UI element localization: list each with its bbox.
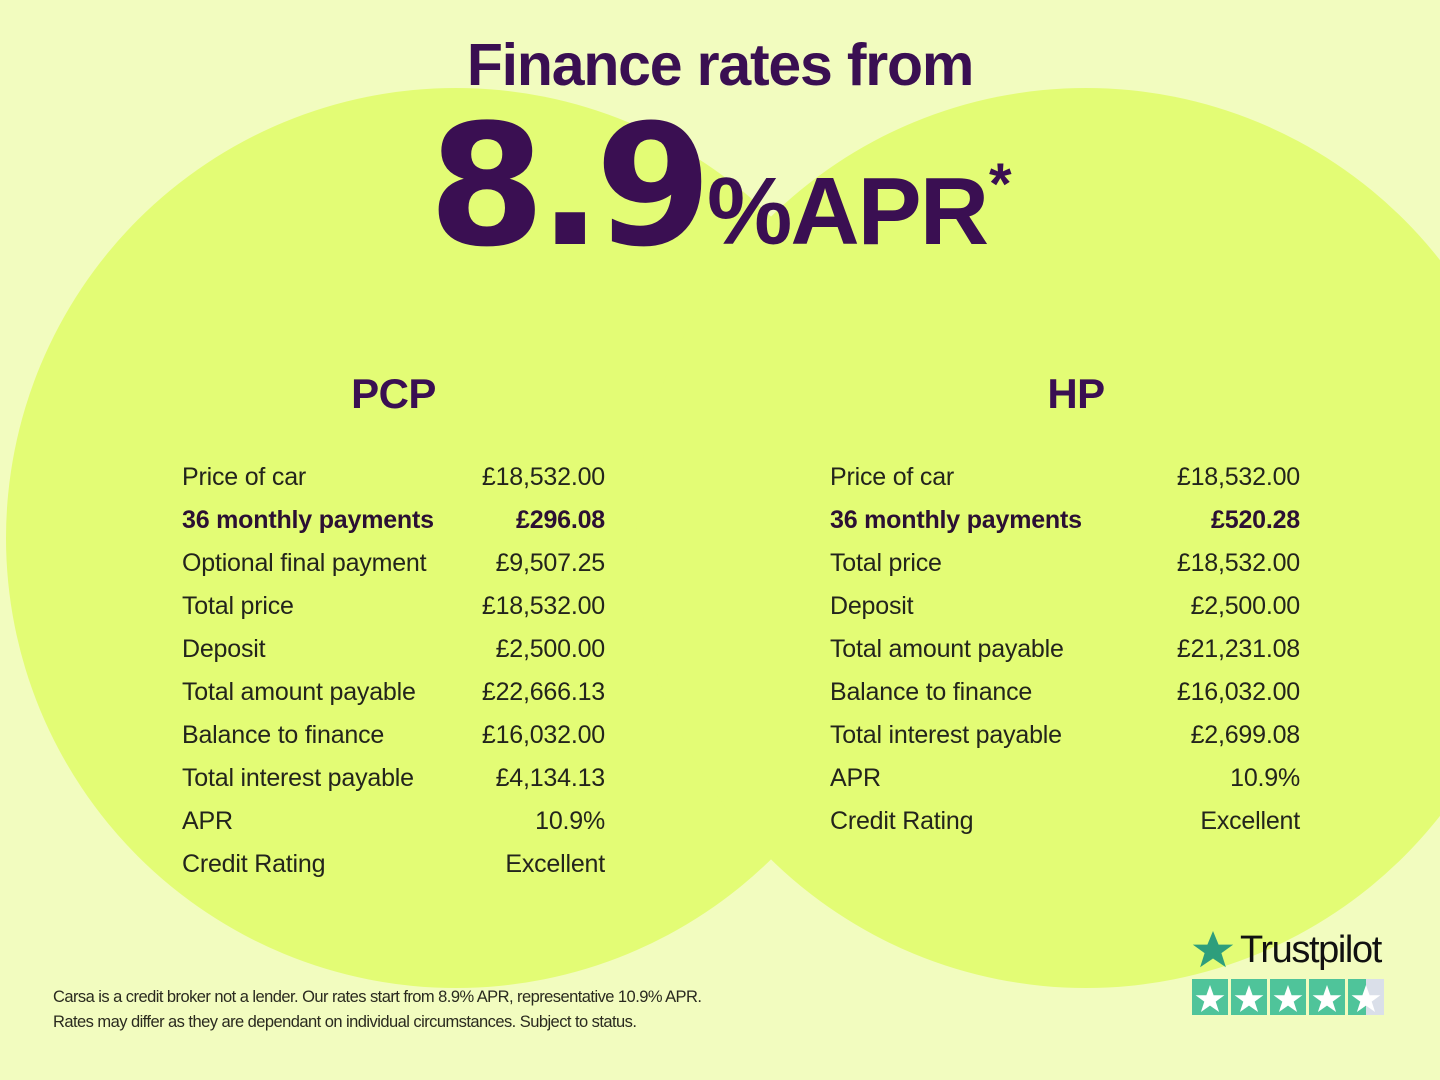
table-row: Deposit£2,500.00 bbox=[830, 591, 1300, 634]
row-label: Total price bbox=[182, 591, 294, 621]
row-label: Optional final payment bbox=[182, 548, 426, 578]
row-value: Excellent bbox=[1200, 806, 1300, 836]
table-row: 36 monthly payments£296.08 bbox=[182, 505, 605, 548]
row-value: £2,500.00 bbox=[496, 634, 605, 664]
table-title-hp: HP bbox=[852, 370, 1300, 418]
disclaimer-text: Carsa is a credit broker not a lender. O… bbox=[53, 985, 813, 1035]
trustpilot-name: Trustpilot bbox=[1240, 931, 1381, 969]
table-row: APR10.9% bbox=[182, 806, 605, 849]
rating-star-full bbox=[1231, 979, 1267, 1015]
trustpilot-rating-stars bbox=[1192, 979, 1384, 1015]
row-label: Total amount payable bbox=[182, 677, 416, 707]
row-value: £18,532.00 bbox=[482, 591, 605, 621]
table-row: Total price£18,532.00 bbox=[830, 548, 1300, 591]
row-value: 10.9% bbox=[535, 806, 605, 836]
row-value: £16,032.00 bbox=[482, 720, 605, 750]
table-row: Optional final payment£9,507.25 bbox=[182, 548, 605, 591]
rating-star-full bbox=[1270, 979, 1306, 1015]
row-label: Total interest payable bbox=[182, 763, 414, 793]
trustpilot-wordmark: Trustpilot bbox=[1192, 930, 1384, 970]
trustpilot-badge[interactable]: Trustpilot bbox=[1192, 930, 1384, 1015]
row-label: Total amount payable bbox=[830, 634, 1064, 664]
headline-rate: 8.9 %APR * bbox=[0, 107, 1440, 267]
apr-rate-suffix: %APR bbox=[707, 164, 987, 260]
table-row: Total price£18,532.00 bbox=[182, 591, 605, 634]
table-row: Price of car£18,532.00 bbox=[830, 462, 1300, 505]
row-value: £22,666.13 bbox=[482, 677, 605, 707]
poster-canvas: Finance rates from 8.9 %APR * PCP Price … bbox=[0, 0, 1440, 1080]
table-row: Credit RatingExcellent bbox=[182, 849, 605, 892]
table-row: Balance to finance£16,032.00 bbox=[830, 677, 1300, 720]
apr-rate-number: 8.9 bbox=[428, 107, 705, 267]
row-value: £9,507.25 bbox=[496, 548, 605, 578]
row-label: Deposit bbox=[830, 591, 913, 621]
table-row: Total amount payable£22,666.13 bbox=[182, 677, 605, 720]
page-title: Finance rates from bbox=[0, 36, 1440, 95]
row-value: Excellent bbox=[505, 849, 605, 879]
row-label: Balance to finance bbox=[182, 720, 384, 750]
row-label: Price of car bbox=[182, 462, 306, 492]
disclaimer-line-2: Rates may differ as they are dependant o… bbox=[53, 1010, 813, 1035]
row-label: Credit Rating bbox=[182, 849, 325, 879]
rating-star-full bbox=[1192, 979, 1228, 1015]
trustpilot-star-icon bbox=[1192, 930, 1234, 970]
row-label: APR bbox=[182, 806, 233, 836]
row-label: 36 monthly payments bbox=[182, 505, 434, 535]
row-value: £18,532.00 bbox=[1177, 548, 1300, 578]
row-value: £296.08 bbox=[516, 505, 605, 535]
table-row: Credit RatingExcellent bbox=[830, 806, 1300, 849]
row-value: 10.9% bbox=[1230, 763, 1300, 793]
row-label: Balance to finance bbox=[830, 677, 1032, 707]
table-row: Total amount payable£21,231.08 bbox=[830, 634, 1300, 677]
row-value: £520.28 bbox=[1211, 505, 1300, 535]
finance-comparison-tables: PCP Price of car£18,532.0036 monthly pay… bbox=[0, 370, 1440, 892]
row-value: £21,231.08 bbox=[1177, 634, 1300, 664]
row-label: Total interest payable bbox=[830, 720, 1062, 750]
table-rows-pcp: Price of car£18,532.0036 monthly payment… bbox=[182, 462, 605, 892]
table-title-pcp: PCP bbox=[182, 370, 605, 418]
table-row: Deposit£2,500.00 bbox=[182, 634, 605, 677]
row-label: Price of car bbox=[830, 462, 954, 492]
table-rows-hp: Price of car£18,532.0036 monthly payment… bbox=[830, 462, 1300, 849]
asterisk-marker: * bbox=[989, 156, 1012, 214]
finance-table-pcp: PCP Price of car£18,532.0036 monthly pay… bbox=[0, 370, 720, 892]
row-value: £18,532.00 bbox=[482, 462, 605, 492]
table-row: 36 monthly payments£520.28 bbox=[830, 505, 1300, 548]
row-label: Deposit bbox=[182, 634, 265, 664]
header: Finance rates from 8.9 %APR * bbox=[0, 36, 1440, 267]
row-value: £18,532.00 bbox=[1177, 462, 1300, 492]
table-row: APR10.9% bbox=[830, 763, 1300, 806]
disclaimer-line-1: Carsa is a credit broker not a lender. O… bbox=[53, 985, 813, 1010]
row-value: £16,032.00 bbox=[1177, 677, 1300, 707]
finance-table-hp: HP Price of car£18,532.0036 monthly paym… bbox=[720, 370, 1440, 892]
row-label: Credit Rating bbox=[830, 806, 973, 836]
table-row: Total interest payable£4,134.13 bbox=[182, 763, 605, 806]
rating-star-full bbox=[1309, 979, 1345, 1015]
row-value: £2,699.08 bbox=[1191, 720, 1300, 750]
row-value: £4,134.13 bbox=[496, 763, 605, 793]
table-row: Price of car£18,532.00 bbox=[182, 462, 605, 505]
table-row: Balance to finance£16,032.00 bbox=[182, 720, 605, 763]
row-label: Total price bbox=[830, 548, 942, 578]
row-label: 36 monthly payments bbox=[830, 505, 1082, 535]
table-row: Total interest payable£2,699.08 bbox=[830, 720, 1300, 763]
rating-star-half bbox=[1348, 979, 1384, 1015]
row-value: £2,500.00 bbox=[1191, 591, 1300, 621]
row-label: APR bbox=[830, 763, 881, 793]
